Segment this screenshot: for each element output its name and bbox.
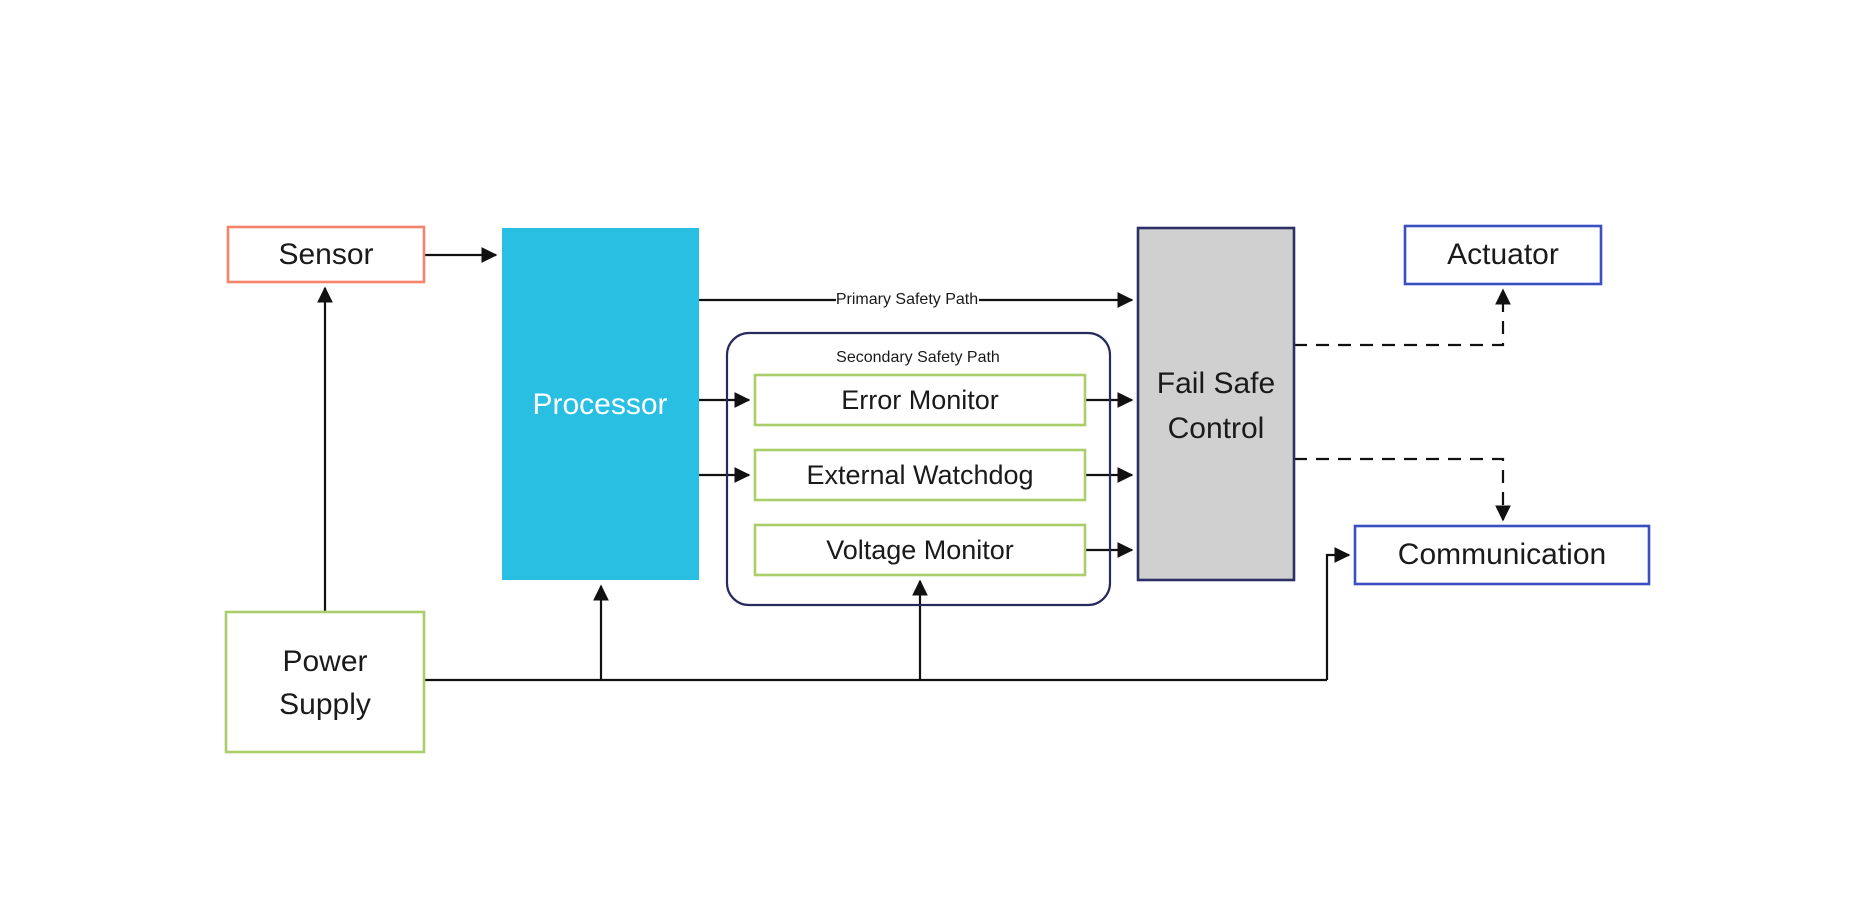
power-supply-label-line1: Power	[282, 645, 367, 678]
node-voltage-monitor[interactable]: Voltage Monitor	[755, 525, 1085, 575]
node-actuator[interactable]: Actuator	[1405, 226, 1601, 284]
secondary-safety-path-label: Secondary Safety Path	[836, 349, 1000, 366]
node-power-supply[interactable]: Power Supply	[226, 612, 424, 752]
node-failsafe-control[interactable]: Fail Safe Control	[1138, 228, 1294, 580]
failsafe-control-label-line1: Fail Safe	[1157, 367, 1275, 400]
actuator-label: Actuator	[1447, 238, 1559, 271]
edge-failsafe-to-actuator	[1294, 290, 1503, 345]
power-supply-label-line2: Supply	[279, 688, 371, 721]
sensor-label: Sensor	[278, 238, 373, 271]
diagram-canvas: Secondary Safety Path Primary Safety Pat…	[0, 0, 1876, 923]
edge-power-to-communication	[1327, 555, 1349, 680]
edge-failsafe-to-communication	[1294, 459, 1503, 520]
power-supply-box[interactable]	[226, 612, 424, 752]
node-processor[interactable]: Processor	[502, 228, 699, 580]
failsafe-control-label-line2: Control	[1168, 412, 1265, 445]
processor-label: Processor	[532, 388, 667, 421]
node-external-watchdog[interactable]: External Watchdog	[755, 450, 1085, 500]
node-communication[interactable]: Communication	[1355, 526, 1649, 584]
error-monitor-label: Error Monitor	[841, 385, 999, 415]
primary-safety-path-label: Primary Safety Path	[836, 291, 978, 308]
failsafe-control-box[interactable]	[1138, 228, 1294, 580]
external-watchdog-label: External Watchdog	[806, 460, 1033, 490]
communication-label: Communication	[1398, 538, 1606, 571]
node-sensor[interactable]: Sensor	[228, 227, 424, 282]
node-error-monitor[interactable]: Error Monitor	[755, 375, 1085, 425]
voltage-monitor-label: Voltage Monitor	[826, 535, 1014, 565]
block-diagram: Secondary Safety Path Primary Safety Pat…	[0, 0, 1876, 923]
